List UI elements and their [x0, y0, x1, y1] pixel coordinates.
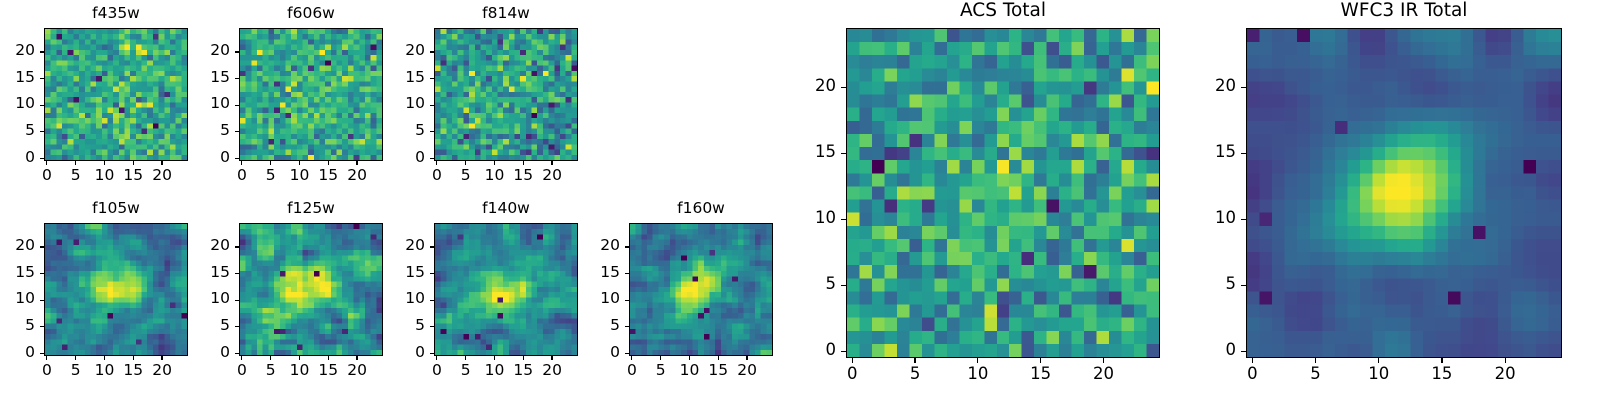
panel-title-f125w: f125w: [239, 201, 383, 217]
yticklabel-f814w-10: 10: [365, 96, 425, 112]
panel-f160w: f160w0510152005101520: [629, 223, 773, 356]
xtick-f814w-10: [494, 161, 495, 165]
yticklabel-f140w-10: 10: [365, 291, 425, 307]
ytick-f105w-5: [40, 326, 44, 327]
xticklabel-f606w-20: 20: [317, 168, 397, 184]
xticklabel-acs-total-20: 20: [1063, 366, 1143, 383]
yticklabel-f125w-0: 0: [170, 345, 230, 361]
yticklabel-f140w-5: 5: [365, 318, 425, 334]
heatmap-image-acs-total: [846, 28, 1160, 358]
panel-title-f435w: f435w: [44, 6, 188, 22]
yticklabel-f125w-5: 5: [170, 318, 230, 334]
xtick-f105w-5: [75, 356, 76, 360]
panel-f606w: f606w0510152005101520: [239, 28, 383, 161]
panel-f435w: f435w0510152005101520: [44, 28, 188, 161]
xtick-f105w-20: [161, 356, 162, 360]
ytick-f160w-20: [625, 246, 629, 247]
yticklabel-wfc3-ir-total-15: 15: [1176, 144, 1236, 161]
heatmap-image-f140w: [434, 223, 578, 356]
yticklabel-f160w-10: 10: [560, 291, 620, 307]
xtick-f105w-0: [46, 356, 47, 360]
yticklabel-f105w-15: 15: [0, 265, 35, 281]
yticklabel-f125w-20: 20: [170, 238, 230, 254]
xtick-f140w-10: [494, 356, 495, 360]
xticklabel-f160w-20: 20: [707, 363, 787, 379]
ytick-wfc3-ir-total-20: [1241, 87, 1246, 88]
ytick-f105w-20: [40, 246, 44, 247]
yticklabel-f435w-0: 0: [0, 150, 35, 166]
yticklabel-f160w-5: 5: [560, 318, 620, 334]
xtick-f814w-20: [551, 161, 552, 165]
yticklabel-wfc3-ir-total-0: 0: [1176, 342, 1236, 359]
yticklabel-f814w-15: 15: [365, 70, 425, 86]
ytick-f814w-20: [430, 51, 434, 52]
yticklabel-acs-total-0: 0: [776, 342, 836, 359]
xtick-f125w-0: [241, 356, 242, 360]
heatmap-image-f125w: [239, 223, 383, 356]
yticklabel-f435w-5: 5: [0, 123, 35, 139]
yticklabel-f814w-5: 5: [365, 123, 425, 139]
ytick-f435w-15: [40, 78, 44, 79]
xtick-f606w-0: [241, 161, 242, 165]
ytick-f435w-0: [40, 158, 44, 159]
xticklabel-f140w-20: 20: [512, 363, 592, 379]
xtick-f435w-5: [75, 161, 76, 165]
ytick-acs-total-15: [841, 153, 846, 154]
xtick-f160w-10: [689, 356, 690, 360]
yticklabel-wfc3-ir-total-5: 5: [1176, 276, 1236, 293]
yticklabel-f105w-0: 0: [0, 345, 35, 361]
xtick-wfc3-ir-total-10: [1378, 358, 1379, 363]
ytick-f435w-20: [40, 51, 44, 52]
ytick-f140w-15: [430, 273, 434, 274]
panel-acs-total: ACS Total0510152005101520: [846, 28, 1160, 358]
yticklabel-wfc3-ir-total-20: 20: [1176, 78, 1236, 95]
yticklabel-f140w-20: 20: [365, 238, 425, 254]
heatmap-image-f814w: [434, 28, 578, 161]
yticklabel-f606w-15: 15: [170, 70, 230, 86]
panel-title-f160w: f160w: [629, 201, 773, 217]
xtick-f606w-10: [299, 161, 300, 165]
xtick-f606w-15: [328, 161, 329, 165]
xticklabel-f125w-20: 20: [317, 363, 397, 379]
yticklabel-acs-total-15: 15: [776, 144, 836, 161]
yticklabel-f606w-0: 0: [170, 150, 230, 166]
xtick-f140w-20: [551, 356, 552, 360]
ytick-f125w-15: [235, 273, 239, 274]
yticklabel-f105w-10: 10: [0, 291, 35, 307]
ytick-f814w-15: [430, 78, 434, 79]
panel-title-f105w: f105w: [44, 201, 188, 217]
yticklabel-f160w-20: 20: [560, 238, 620, 254]
xtick-f435w-15: [133, 161, 134, 165]
xtick-f814w-15: [523, 161, 524, 165]
yticklabel-f125w-15: 15: [170, 265, 230, 281]
ytick-f435w-10: [40, 105, 44, 106]
xtick-f606w-20: [356, 161, 357, 165]
yticklabel-f140w-0: 0: [365, 345, 425, 361]
xticklabel-f435w-20: 20: [122, 168, 202, 184]
xtick-f814w-0: [436, 161, 437, 165]
xtick-acs-total-20: [1103, 358, 1104, 363]
xtick-f160w-15: [718, 356, 719, 360]
ytick-wfc3-ir-total-5: [1241, 285, 1246, 286]
xtick-f140w-0: [436, 356, 437, 360]
ytick-f814w-10: [430, 105, 434, 106]
heatmap-image-f435w: [44, 28, 188, 161]
ytick-f105w-10: [40, 300, 44, 301]
xticklabel-f105w-20: 20: [122, 363, 202, 379]
xtick-f105w-15: [133, 356, 134, 360]
xtick-f105w-10: [104, 356, 105, 360]
xticklabel-wfc3-ir-total-20: 20: [1465, 366, 1545, 383]
ytick-f606w-20: [235, 51, 239, 52]
yticklabel-f160w-0: 0: [560, 345, 620, 361]
yticklabel-f105w-20: 20: [0, 238, 35, 254]
ytick-wfc3-ir-total-0: [1241, 351, 1246, 352]
yticklabel-wfc3-ir-total-10: 10: [1176, 210, 1236, 227]
xtick-wfc3-ir-total-20: [1505, 358, 1506, 363]
ytick-f140w-5: [430, 326, 434, 327]
xtick-f160w-5: [660, 356, 661, 360]
ytick-f606w-10: [235, 105, 239, 106]
yticklabel-f814w-20: 20: [365, 43, 425, 59]
yticklabel-f606w-5: 5: [170, 123, 230, 139]
ytick-f160w-15: [625, 273, 629, 274]
panel-f140w: f140w0510152005101520: [434, 223, 578, 356]
panel-f125w: f125w0510152005101520: [239, 223, 383, 356]
ytick-f435w-5: [40, 131, 44, 132]
yticklabel-acs-total-20: 20: [776, 78, 836, 95]
ytick-acs-total-5: [841, 285, 846, 286]
xtick-acs-total-5: [914, 358, 915, 363]
xtick-acs-total-0: [852, 358, 853, 363]
xtick-f160w-0: [631, 356, 632, 360]
xtick-f814w-5: [465, 161, 466, 165]
ytick-f125w-10: [235, 300, 239, 301]
ytick-f125w-5: [235, 326, 239, 327]
ytick-f140w-0: [430, 353, 434, 354]
heatmap-image-wfc3-ir-total: [1246, 28, 1562, 358]
ytick-f125w-20: [235, 246, 239, 247]
ytick-f814w-0: [430, 158, 434, 159]
xtick-f125w-20: [356, 356, 357, 360]
yticklabel-f435w-10: 10: [0, 96, 35, 112]
heatmap-image-f160w: [629, 223, 773, 356]
panel-title-f140w: f140w: [434, 201, 578, 217]
xtick-acs-total-15: [1040, 358, 1041, 363]
panel-title-f814w: f814w: [434, 6, 578, 22]
ytick-f160w-10: [625, 300, 629, 301]
yticklabel-f160w-15: 15: [560, 265, 620, 281]
panel-title-wfc3-ir-total: WFC3 IR Total: [1246, 2, 1562, 21]
ytick-f606w-5: [235, 131, 239, 132]
xtick-f125w-15: [328, 356, 329, 360]
yticklabel-f140w-15: 15: [365, 265, 425, 281]
xtick-wfc3-ir-total-5: [1315, 358, 1316, 363]
xtick-acs-total-10: [977, 358, 978, 363]
ytick-f160w-0: [625, 353, 629, 354]
ytick-wfc3-ir-total-15: [1241, 153, 1246, 154]
ytick-f814w-5: [430, 131, 434, 132]
ytick-acs-total-0: [841, 351, 846, 352]
panel-f105w: f105w0510152005101520: [44, 223, 188, 356]
xtick-f435w-0: [46, 161, 47, 165]
xticklabel-f814w-20: 20: [512, 168, 592, 184]
yticklabel-acs-total-5: 5: [776, 276, 836, 293]
panel-title-acs-total: ACS Total: [846, 2, 1160, 21]
xtick-f140w-15: [523, 356, 524, 360]
ytick-f606w-15: [235, 78, 239, 79]
ytick-f606w-0: [235, 158, 239, 159]
ytick-acs-total-10: [841, 219, 846, 220]
ytick-f160w-5: [625, 326, 629, 327]
ytick-f105w-0: [40, 353, 44, 354]
ytick-f125w-0: [235, 353, 239, 354]
panel-title-f606w: f606w: [239, 6, 383, 22]
xtick-f606w-5: [270, 161, 271, 165]
heatmap-image-f105w: [44, 223, 188, 356]
yticklabel-f125w-10: 10: [170, 291, 230, 307]
xtick-f160w-20: [746, 356, 747, 360]
yticklabel-f606w-20: 20: [170, 43, 230, 59]
ytick-acs-total-20: [841, 87, 846, 88]
panel-f814w: f814w0510152005101520: [434, 28, 578, 161]
yticklabel-acs-total-10: 10: [776, 210, 836, 227]
figure-canvas: f435w0510152005101520f606w05101520051015…: [0, 0, 1600, 400]
yticklabel-f105w-5: 5: [0, 318, 35, 334]
xtick-wfc3-ir-total-15: [1441, 358, 1442, 363]
xtick-f125w-5: [270, 356, 271, 360]
yticklabel-f435w-15: 15: [0, 70, 35, 86]
xtick-f140w-5: [465, 356, 466, 360]
yticklabel-f606w-10: 10: [170, 96, 230, 112]
panel-wfc3-ir-total: WFC3 IR Total0510152005101520: [1246, 28, 1562, 358]
yticklabel-f435w-20: 20: [0, 43, 35, 59]
xtick-f435w-10: [104, 161, 105, 165]
xtick-wfc3-ir-total-0: [1252, 358, 1253, 363]
ytick-f105w-15: [40, 273, 44, 274]
heatmap-image-f606w: [239, 28, 383, 161]
ytick-f140w-20: [430, 246, 434, 247]
ytick-wfc3-ir-total-10: [1241, 219, 1246, 220]
yticklabel-f814w-0: 0: [365, 150, 425, 166]
xtick-f125w-10: [299, 356, 300, 360]
ytick-f140w-10: [430, 300, 434, 301]
xtick-f435w-20: [161, 161, 162, 165]
